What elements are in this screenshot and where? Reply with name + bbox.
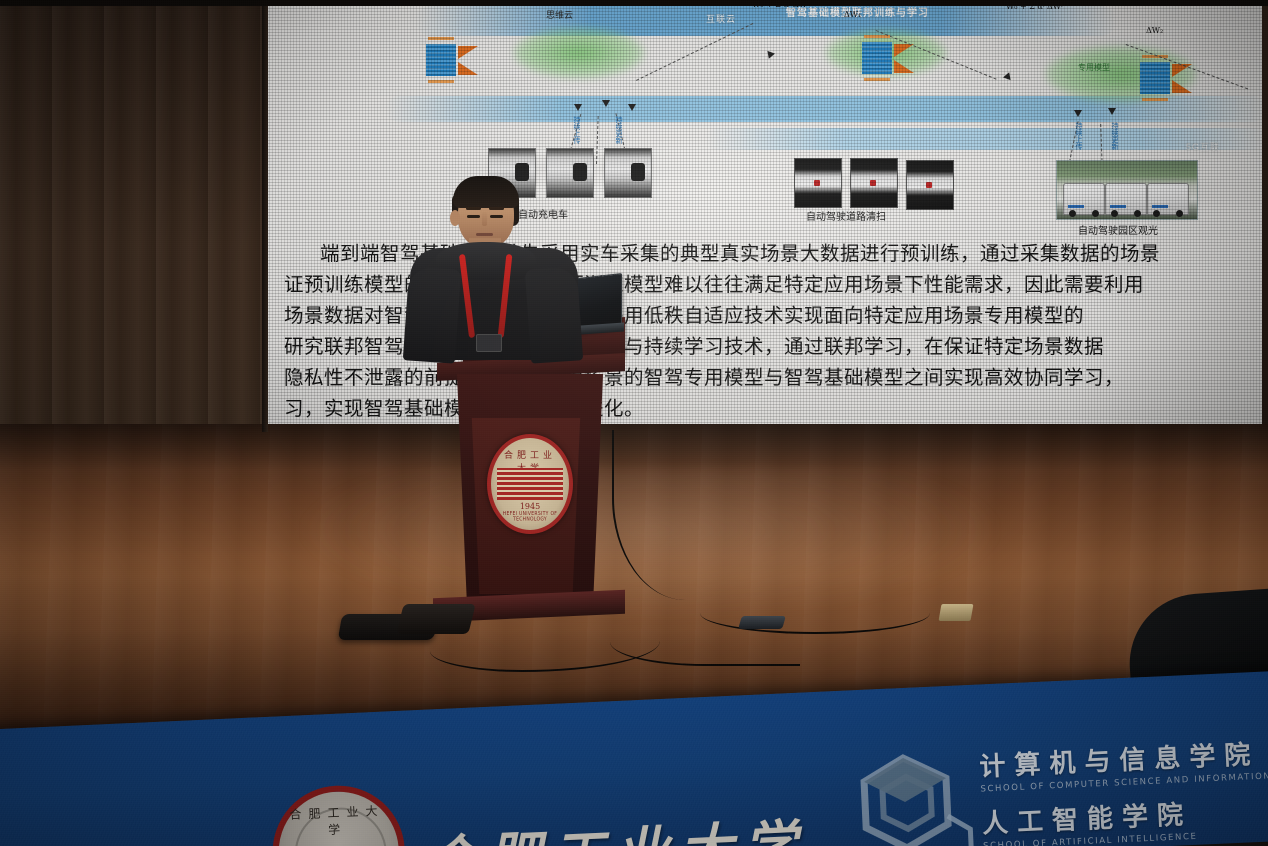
label-continuous-update-left: 持续更新 [614, 116, 624, 144]
label-continuous-upload-left: 持续上传 [572, 116, 582, 144]
arrowhead-shuttle-1 [1074, 110, 1082, 117]
node-bar-bottom [428, 80, 454, 83]
node-bar-bottom [1142, 98, 1168, 101]
charging-cart-3 [604, 148, 652, 198]
road-sweeper-3 [906, 160, 954, 210]
banner-departments: 计算机与信息学院 SCHOOL OF COMPUTER SCIENCE AND … [979, 730, 1268, 846]
label-thinking-cloud: 思维云 [546, 8, 573, 21]
lectern: 合肥工業大學 合肥工业大学 1945 HEFEI UNIVERSITY OF T… [419, 322, 619, 642]
eye-right [490, 215, 503, 218]
road-sweeper-1 [794, 158, 842, 208]
shuttle-stripe [1068, 205, 1084, 208]
label-specialized-model: 专用模型 [1078, 62, 1110, 73]
shuttle-wheel [1092, 210, 1099, 217]
arrowhead-cart-2 [602, 100, 610, 107]
sweeper-marker [926, 182, 932, 188]
banner-logo-arc-text: 合肥工业大学 [289, 802, 386, 840]
node-bar-bottom [864, 78, 890, 81]
shuttle-bus-3 [1147, 183, 1189, 215]
emblem-year: 1945 [491, 502, 569, 511]
sweeper-marker [814, 180, 820, 186]
arrowhead-cart-3 [628, 104, 636, 111]
brow-left [466, 207, 481, 210]
presenter-mouth [476, 233, 493, 236]
formula-delta-2: ΔW₂ [1146, 26, 1163, 35]
floor-wedge-block [939, 604, 974, 621]
shuttle-stripe [1152, 205, 1168, 208]
shuttle-wheel [1111, 210, 1118, 217]
presentation-photo: 智驾基础模型联邦训练与学习 互联云 5G互联 思维云 [0, 0, 1268, 846]
presenter-arm-left [403, 266, 461, 363]
cart-lens [631, 163, 645, 181]
formula-delta-1: ΔW₁ [844, 10, 861, 19]
connector-cart-2 [596, 116, 599, 164]
eye-left [467, 215, 480, 218]
emblem-gate-motif [497, 468, 563, 500]
arrowhead-shuttle-2 [1108, 108, 1116, 115]
photo-shuttle-buses [1056, 160, 1198, 220]
caption-road-sweeper: 自动驾驶道路清扫 [806, 208, 886, 223]
university-emblem: 合肥工业大学 1945 HEFEI UNIVERSITY OF TECHNOLO… [487, 434, 573, 534]
arrowhead-center-down [1003, 71, 1013, 80]
node-block [426, 44, 456, 76]
arrowhead-cart-1 [574, 104, 582, 111]
caption-shuttle-bus: 自动驾驶园区观光 [1078, 222, 1158, 237]
brow-right [489, 207, 504, 210]
node-triangle-upper [894, 44, 914, 57]
emblem-english-name: HEFEI UNIVERSITY OF TECHNOLOGY [494, 512, 566, 523]
presenter-arm-right [525, 266, 583, 363]
floor-bag-2 [396, 604, 475, 634]
presenter [406, 176, 584, 356]
floor-device [738, 616, 786, 629]
shuttle-bus-1 [1063, 183, 1105, 215]
label-interconnect-cloud: 互联云 [706, 12, 736, 25]
node-triangle-lower [458, 62, 478, 75]
name-badge [476, 334, 502, 352]
shuttle-wheel [1069, 210, 1076, 217]
sweeper-marker [870, 180, 876, 186]
road-sweeper-2 [850, 158, 898, 208]
cloud-base-model-left [514, 28, 644, 78]
node-block [1140, 62, 1170, 94]
node-bar-top [428, 37, 454, 40]
cube-logo-icon [841, 743, 986, 846]
arrowhead-left-up [765, 51, 775, 60]
node-triangle-lower [1172, 80, 1192, 93]
shuttle-wheel [1153, 210, 1160, 217]
label-5g-interconnect: 5G互联 [1186, 140, 1220, 153]
federated-band-lower [706, 128, 1266, 150]
presenter-hair [453, 176, 519, 208]
presenter-nose [482, 212, 487, 226]
ceiling-edge [0, 0, 1268, 6]
label-continuous-update-right: 持续更新 [1110, 122, 1120, 150]
shuttle-stripe [1110, 205, 1126, 208]
shuttle-wheel [1176, 210, 1183, 217]
label-continuous-upload-right: 持续上传 [1074, 122, 1084, 150]
node-block [862, 42, 892, 74]
node-triangle-lower [894, 60, 914, 73]
shuttle-bus-2 [1105, 183, 1147, 215]
shuttle-wheel [1134, 210, 1141, 217]
screen-bezel [262, 0, 268, 432]
presenter-ear [450, 210, 460, 226]
node-triangle-upper [458, 46, 478, 59]
